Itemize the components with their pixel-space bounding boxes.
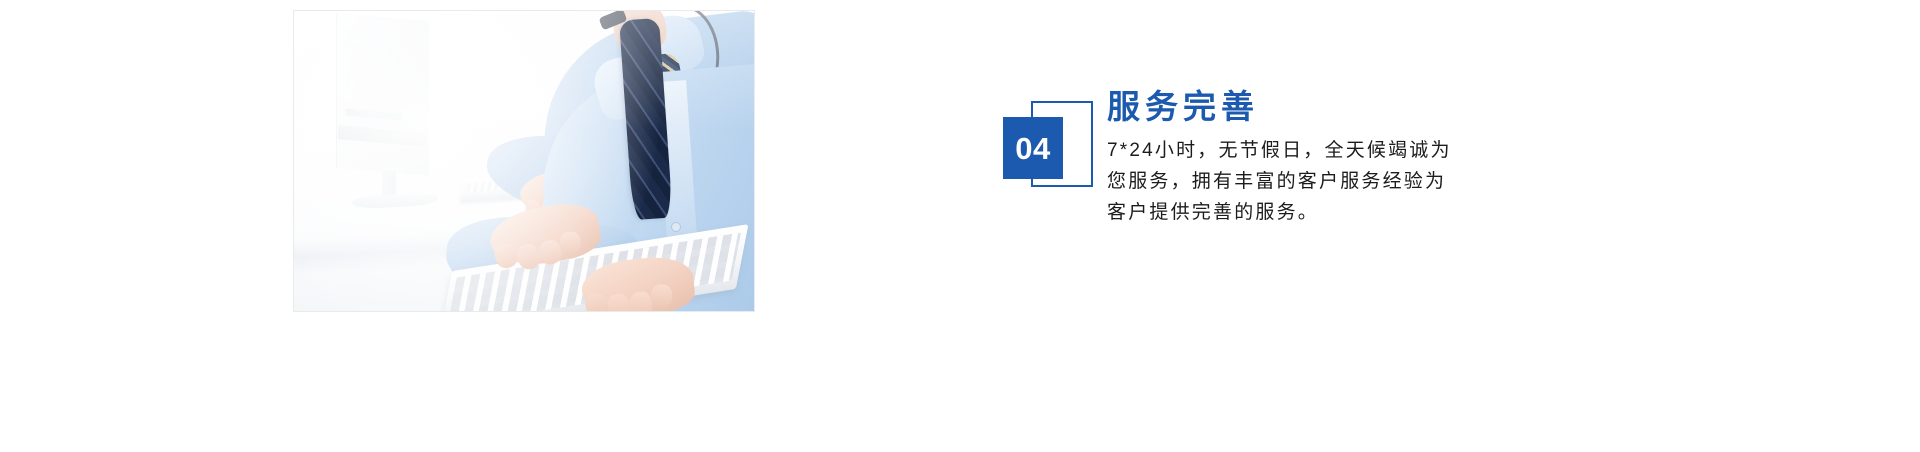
- finger: [629, 291, 653, 311]
- description-line-1: 7*24小时，无节假日，全天候竭诚为: [1107, 136, 1527, 167]
- description-line-2: 您服务，拥有丰富的客户服务经验为: [1107, 167, 1527, 198]
- service-feature-banner: 04 服务完善 7*24小时，无节假日，全天候竭诚为 您服务，拥有丰富的客户服务…: [0, 0, 1920, 452]
- shirt-button: [672, 223, 680, 231]
- finger: [583, 291, 611, 311]
- photo-canvas: [294, 11, 754, 311]
- feature-content: 04 服务完善 7*24小时，无节假日，全天候竭诚为 您服务，拥有丰富的客户服务…: [1003, 86, 1563, 266]
- feature-text-column: 服务完善 7*24小时，无节假日，全天候竭诚为 您服务，拥有丰富的客户服务经验为…: [1107, 86, 1527, 229]
- monitor-icon: [336, 13, 429, 176]
- feature-number: 04: [1003, 117, 1063, 179]
- feature-number-badge: 04: [1003, 101, 1095, 205]
- customer-service-photo: [293, 10, 755, 312]
- finger: [606, 293, 632, 311]
- finger: [559, 231, 581, 254]
- feature-title: 服务完善: [1107, 86, 1527, 127]
- description-line-3: 客户提供完善的服务。: [1107, 198, 1527, 229]
- finger: [651, 284, 673, 308]
- feature-description: 7*24小时，无节假日，全天候竭诚为 您服务，拥有丰富的客户服务经验为 客户提供…: [1107, 136, 1527, 228]
